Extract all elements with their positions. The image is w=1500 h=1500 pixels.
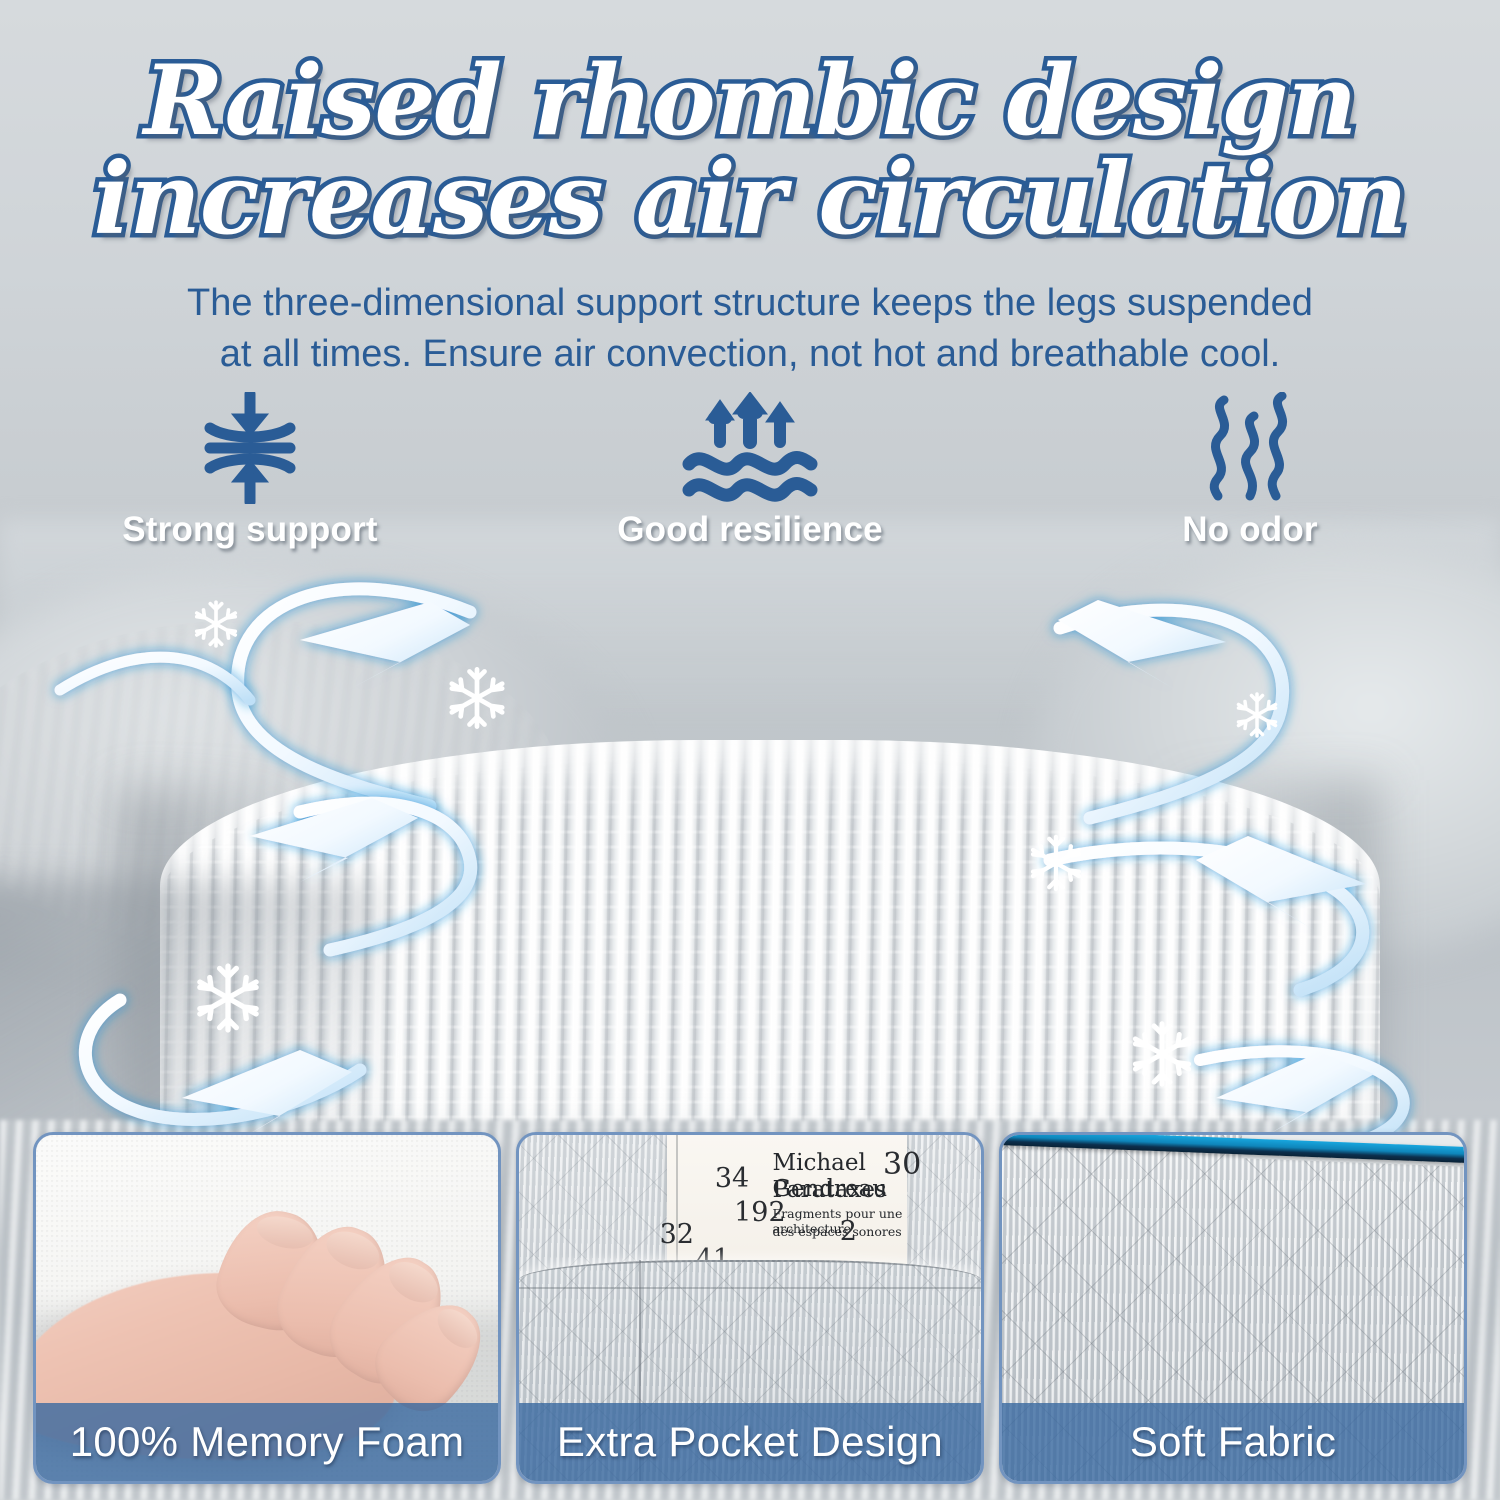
book-in-pocket: Michael Gendreau Parataxes Fragments pou… [667, 1133, 907, 1271]
panel-label: 100% Memory Foam [36, 1403, 498, 1481]
subtitle-line-2: at all times. Ensure air convection, not… [0, 329, 1500, 380]
feature-row: Strong support Good resil [0, 392, 1500, 582]
book-title: Parataxes [773, 1177, 887, 1203]
headline-line-2: increases air circulation [0, 150, 1500, 250]
book-number: 32 [660, 1219, 694, 1250]
book-subtitle-line-2: des espaces sonores [773, 1224, 902, 1239]
feature-label: Good resilience [617, 510, 883, 550]
panel-soft-fabric[interactable]: Soft Fabric [999, 1132, 1467, 1484]
feature-label: Strong support [122, 510, 378, 550]
feature-no-odor: No odor [1000, 392, 1500, 582]
feature-strong-support: Strong support [0, 392, 500, 582]
book-number: 192 [734, 1197, 786, 1228]
pocket-hem [519, 1260, 981, 1290]
feature-label: No odor [1182, 510, 1318, 550]
book-spine [676, 1133, 678, 1271]
product-feature-image: Raised rhombic design increases air circ… [0, 0, 1500, 1500]
odor-waves-icon [1202, 392, 1298, 504]
feature-good-resilience: Good resilience [500, 392, 1000, 582]
subtitle-line-1: The three-dimensional support structure … [0, 278, 1500, 329]
headline-line-1: Raised rhombic design [144, 44, 1356, 157]
panel-label: Extra Pocket Design [519, 1403, 981, 1481]
panel-label: Soft Fabric [1002, 1403, 1464, 1481]
book-number: 30 [883, 1147, 921, 1182]
panel-extra-pocket[interactable]: Michael Gendreau Parataxes Fragments pou… [516, 1132, 984, 1484]
compression-arrows-icon [196, 392, 304, 504]
book-number: 34 [715, 1163, 749, 1194]
feature-panels: 100% Memory Foam Michael Gendreau Parata… [33, 1132, 1467, 1484]
panel-memory-foam[interactable]: 100% Memory Foam [33, 1132, 501, 1484]
up-arrows-waves-icon [675, 392, 825, 504]
subtitle: The three-dimensional support structure … [0, 278, 1500, 380]
headline: Raised rhombic design increases air circ… [0, 52, 1500, 250]
book-number: 2 [840, 1216, 857, 1247]
